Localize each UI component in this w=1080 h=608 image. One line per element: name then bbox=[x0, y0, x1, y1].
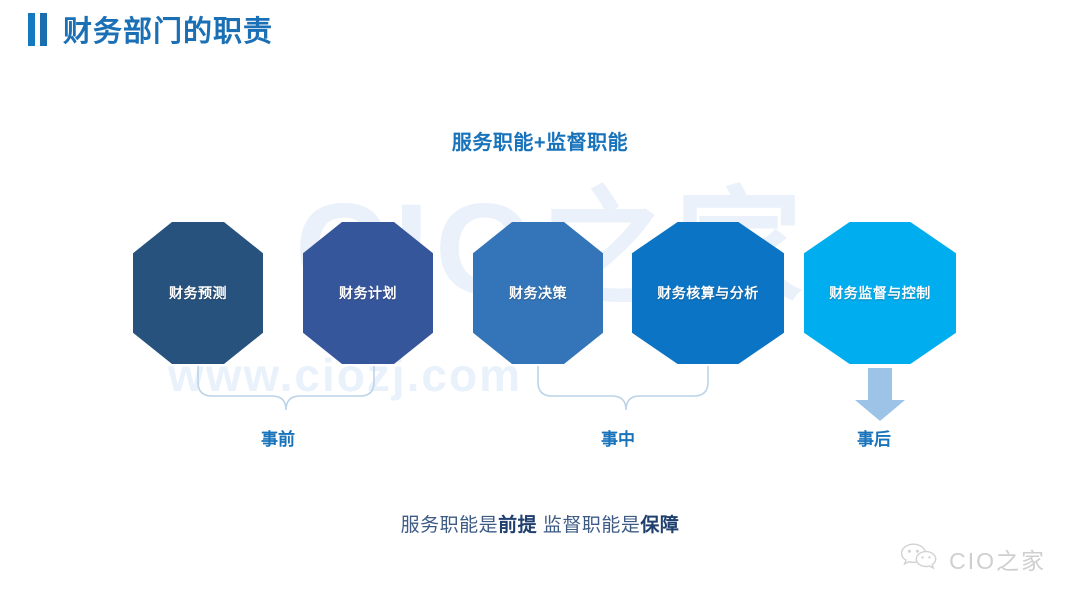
caption-emphasis-2: 保障 bbox=[640, 515, 679, 536]
process-node-2[interactable]: 财务计划 bbox=[303, 222, 433, 364]
process-node-label: 财务核算与分析 bbox=[657, 283, 759, 303]
process-node-5[interactable]: 财务监督与控制 bbox=[804, 222, 956, 364]
stage-label-2: 事中 bbox=[601, 425, 635, 450]
footer-brand-label: CIO之家 bbox=[949, 542, 1046, 576]
arrow-stage-3-icon bbox=[855, 368, 905, 421]
process-node-label: 财务决策 bbox=[509, 283, 567, 303]
slide-canvas: CIO之家 www.ciozj.com 财务部门的职责 服务职能+监督职能 财务… bbox=[0, 0, 1080, 608]
page-title: 财务部门的职责 bbox=[63, 8, 273, 50]
process-node-4[interactable]: 财务核算与分析 bbox=[632, 222, 784, 364]
process-node-label: 财务监督与控制 bbox=[829, 283, 931, 303]
process-node-1[interactable]: 财务预测 bbox=[133, 222, 263, 364]
wechat-icon bbox=[899, 541, 939, 576]
stage-label-1: 事前 bbox=[261, 425, 295, 450]
stage-label-3: 事后 bbox=[857, 425, 891, 450]
process-node-label: 财务预测 bbox=[169, 283, 227, 303]
process-node-label: 财务计划 bbox=[339, 283, 397, 303]
page-title-row: 财务部门的职责 bbox=[28, 8, 273, 50]
caption-part-1: 服务职能是 bbox=[401, 515, 499, 536]
caption-part-2: 监督职能是 bbox=[537, 515, 640, 536]
caption-emphasis-1: 前提 bbox=[498, 515, 537, 536]
footer-brand: CIO之家 bbox=[899, 541, 1046, 576]
brace-stage-2 bbox=[538, 366, 708, 410]
process-node-row: 财务预测 财务计划 财务决策 财务核算与分析 财务监督与控制 bbox=[0, 222, 1080, 364]
title-bar-icon bbox=[28, 13, 47, 46]
process-node-3[interactable]: 财务决策 bbox=[473, 222, 603, 364]
subtitle-text: 服务职能+监督职能 bbox=[0, 126, 1080, 155]
brace-stage-1 bbox=[198, 366, 374, 410]
caption-text: 服务职能是前提 监督职能是保障 bbox=[0, 510, 1080, 537]
